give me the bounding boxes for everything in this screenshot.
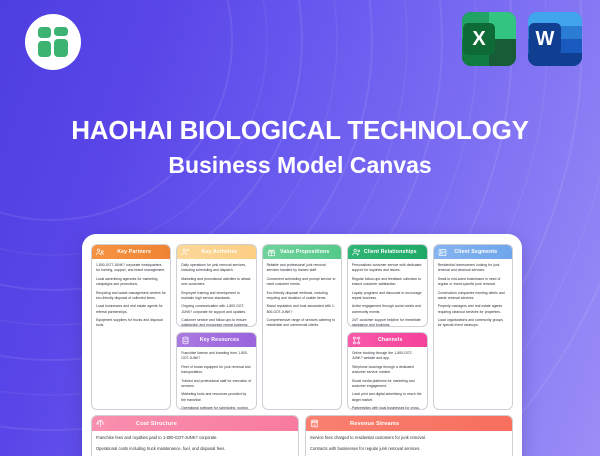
canvas-item: Local print and digital advertising to r… [352, 392, 423, 402]
segments-users-icon [438, 248, 447, 257]
page-title: HAOHAI BIOLOGICAL TECHNOLOGY [0, 116, 600, 145]
canvas-block-title: Cost Structure [108, 421, 294, 427]
canvas-item: Comprehensive range of services catering… [267, 318, 337, 328]
canvas-column-value-propositions: Value Propositions Reliable and professi… [262, 244, 342, 410]
cost-scale-icon [96, 419, 105, 428]
canvas-item: Trained and professional staff for execu… [181, 379, 251, 389]
canvas-item: Active engagement through social media a… [352, 304, 423, 314]
canvas-block-title: Revenue Streams [322, 421, 508, 427]
page-subtitle: Business Model Canvas [0, 153, 600, 179]
canvas-block-title: Channels [364, 337, 423, 343]
canvas-item: Eco-friendly disposal methods, including… [267, 291, 337, 301]
canvas-block-body: Online booking through the 1-800-GOT-JUN… [348, 347, 427, 410]
canvas-block-header: Channels [348, 333, 427, 347]
canvas-block-header: Key Activities [177, 245, 255, 259]
canvas-block-client-segments[interactable]: Client Segments Residential homeowners l… [433, 244, 513, 410]
canvas-item: Residential homeowners looking for junk … [438, 263, 508, 273]
slide-background: X W HAOHAI BIOLOGICAL TECHNOLOGY Busines… [0, 0, 600, 456]
excel-icon-letter: X [463, 23, 495, 55]
canvas-column-relationships-channels: Client Relationships Personalized custom… [347, 244, 428, 410]
canvas-columns: Key Partners 1-800-GOT-JUNK? corporate h… [91, 244, 513, 410]
revenue-calculator-icon [310, 419, 319, 428]
canvas-item: Local advertising agencies for marketing… [96, 277, 166, 287]
canvas-column-key-partners: Key Partners 1-800-GOT-JUNK? corporate h… [91, 244, 171, 410]
relationships-people-icon [352, 248, 361, 257]
canvas-block-body: Franchise license and branding from 1-80… [177, 347, 255, 410]
excel-icon[interactable]: X [462, 12, 516, 66]
canvas-block-key-activities[interactable]: Key Activities Daily operations for junk… [176, 244, 256, 327]
canvas-block-header: Client Segments [434, 245, 512, 259]
canvas-item: Partnerships with local businesses for c… [352, 406, 423, 410]
canvas-item: 24/7 customer support helpline for immed… [352, 318, 423, 327]
canvas-item: Small to mid-sized businesses in need of… [438, 277, 508, 287]
canvas-item: Local organizations and community groups… [438, 318, 508, 328]
canvas-block-title: Key Partners [108, 249, 166, 255]
canvas-item: Marketing tools and resources provided b… [181, 392, 251, 402]
canvas-item: Employee training and development to mai… [181, 291, 251, 301]
canvas-block-title: Key Activities [193, 249, 251, 255]
canvas-item: Marketing and promotional activities to … [181, 277, 251, 287]
canvas-item: Service fees charged to residential cust… [310, 435, 508, 441]
canvas-block-body: Daily operations for junk removal servic… [177, 259, 255, 327]
canvas-block-title: Client Relationships [364, 249, 423, 255]
canvas-item: Ongoing communication with 1-800-GOT-JUN… [181, 304, 251, 314]
canvas-block-body: Reliable and professional junk removal s… [263, 259, 341, 331]
canvas-block-revenue-streams[interactable]: Revenue Streams Service fees charged to … [305, 415, 513, 456]
canvas-item: Reliable and professional junk removal s… [267, 263, 337, 273]
canvas-item: Convenient scheduling and prompt service… [267, 277, 337, 287]
canvas-item: Social media platforms for marketing and… [352, 379, 423, 389]
canvas-block-cost-structure[interactable]: Cost Structure Franchise fees and royalt… [91, 415, 299, 456]
canvas-item: Fleet of trucks equipped for junk remova… [181, 365, 251, 375]
activities-person-gear-icon [181, 248, 190, 257]
canvas-block-header: Cost Structure [92, 416, 298, 431]
canvas-block-body: Residential homeowners looking for junk … [434, 259, 512, 331]
canvas-item: Local businesses and real estate agents … [96, 304, 166, 314]
canvas-item: Recycling and waste management centers f… [96, 291, 166, 301]
canvas-bottom-row: Cost Structure Franchise fees and royalt… [91, 415, 513, 456]
canvas-item: Brand reputation and trust associated wi… [267, 304, 337, 314]
office-app-icons: X W [462, 12, 582, 66]
canvas-block-header: Key Partners [92, 245, 170, 259]
canvas-item: Online booking through the 1-800-GOT-JUN… [352, 351, 423, 361]
canvas-block-client-relationships[interactable]: Client Relationships Personalized custom… [347, 244, 428, 327]
canvas-block-header: Revenue Streams [306, 416, 512, 431]
word-icon-letter: W [529, 23, 561, 55]
canvas-block-title: Key Resources [193, 337, 251, 343]
canvas-item: Contracts with businesses for regular ju… [310, 446, 508, 452]
word-icon[interactable]: W [528, 12, 582, 66]
canvas-column-activities-resources: Key Activities Daily operations for junk… [176, 244, 256, 410]
business-model-canvas-panel: Key Partners 1-800-GOT-JUNK? corporate h… [82, 234, 522, 456]
canvas-column-client-segments: Client Segments Residential homeowners l… [433, 244, 513, 410]
canvas-item: Franchise fees and royalties paid to 1-8… [96, 435, 294, 441]
grid-squares-logo-icon [38, 27, 68, 57]
canvas-item: Operational costs including truck mainte… [96, 446, 294, 452]
canvas-block-header: Client Relationships [348, 245, 427, 259]
canvas-item: Telephone bookings through a dedicated c… [352, 365, 423, 375]
canvas-item: Personalized customer service with dedic… [352, 263, 423, 273]
canvas-item: Daily operations for junk removal servic… [181, 263, 251, 273]
canvas-block-key-resources[interactable]: Key Resources Franchise license and bran… [176, 332, 256, 410]
canvas-block-header: Value Propositions [263, 245, 341, 259]
canvas-block-body: 1-800-GOT-JUNK? corporate headquarters f… [92, 259, 170, 331]
canvas-block-key-partners[interactable]: Key Partners 1-800-GOT-JUNK? corporate h… [91, 244, 171, 410]
company-logo [25, 14, 81, 70]
canvas-item: Equipment suppliers for trucks and dispo… [96, 318, 166, 328]
canvas-item: Operational software for scheduling, rou… [181, 406, 251, 410]
canvas-item: Loyalty programs and discounts to encour… [352, 291, 423, 301]
canvas-item: Property managers and real estate agents… [438, 304, 508, 314]
canvas-block-body: Service fees charged to residential cust… [306, 431, 512, 456]
canvas-block-title: Client Segments [450, 249, 508, 255]
canvas-block-title: Value Propositions [279, 249, 337, 255]
title-block: HAOHAI BIOLOGICAL TECHNOLOGY Business Mo… [0, 116, 600, 179]
canvas-block-body: Personalized customer service with dedic… [348, 259, 427, 327]
partners-handshake-icon [96, 248, 105, 257]
canvas-block-value-propositions[interactable]: Value Propositions Reliable and professi… [262, 244, 342, 410]
canvas-item: Construction companies needing debris an… [438, 291, 508, 301]
channels-network-icon [352, 336, 361, 345]
canvas-item: Regular follow-ups and feedback collecti… [352, 277, 423, 287]
value-gift-icon [267, 248, 276, 257]
canvas-block-header: Key Resources [177, 333, 255, 347]
canvas-item: Franchise license and branding from 1-80… [181, 351, 251, 361]
canvas-item: 1-800-GOT-JUNK? corporate headquarters f… [96, 263, 166, 273]
canvas-block-body: Franchise fees and royalties paid to 1-8… [92, 431, 298, 456]
canvas-block-channels[interactable]: Channels Online booking through the 1-80… [347, 332, 428, 410]
canvas-item: Customer service and follow-ups to ensur… [181, 318, 251, 327]
resources-database-icon [181, 336, 190, 345]
